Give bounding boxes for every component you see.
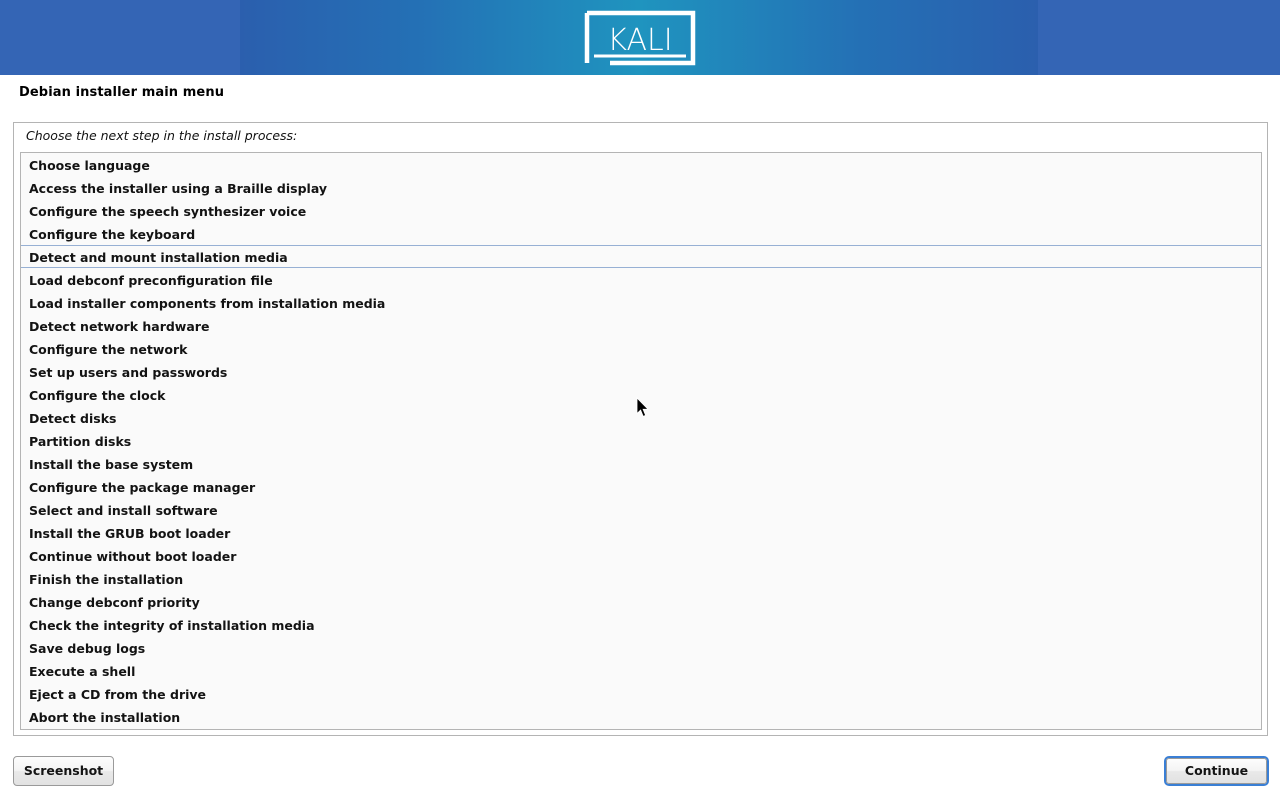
menu-item[interactable]: Set up users and passwords: [21, 360, 1261, 383]
menu-item[interactable]: Configure the clock: [21, 383, 1261, 406]
svg-text:KALI: KALI: [607, 23, 672, 58]
menu-item[interactable]: Install the GRUB boot loader: [21, 521, 1261, 544]
menu-item[interactable]: Load debconf preconfiguration file: [21, 268, 1261, 291]
menu-item[interactable]: Configure the speech synthesizer voice: [21, 199, 1261, 222]
menu-item[interactable]: Eject a CD from the drive: [21, 682, 1261, 705]
menu-item[interactable]: Continue without boot loader: [21, 544, 1261, 567]
menu-item[interactable]: Choose language: [21, 153, 1261, 176]
panel-prompt: Choose the next step in the install proc…: [26, 128, 297, 143]
page-title: Debian installer main menu: [19, 85, 224, 100]
menu-item[interactable]: Install the base system: [21, 452, 1261, 475]
menu-item[interactable]: Partition disks: [21, 429, 1261, 452]
menu-item[interactable]: Configure the package manager: [21, 475, 1261, 498]
menu-item[interactable]: Execute a shell: [21, 659, 1261, 682]
menu-item[interactable]: Detect network hardware: [21, 314, 1261, 337]
continue-button[interactable]: Continue: [1166, 758, 1267, 784]
menu-item[interactable]: Access the installer using a Braille dis…: [21, 176, 1261, 199]
menu-item[interactable]: Save debug logs: [21, 636, 1261, 659]
menu-item[interactable]: Abort the installation: [21, 705, 1261, 728]
kali-banner: KALI: [0, 0, 1280, 75]
kali-logo-icon: KALI: [584, 10, 696, 66]
menu-item[interactable]: Change debconf priority: [21, 590, 1261, 613]
menu-item[interactable]: Configure the keyboard: [21, 222, 1261, 245]
menu-item[interactable]: Load installer components from installat…: [21, 291, 1261, 314]
installer-panel: Choose the next step in the install proc…: [13, 122, 1268, 736]
menu-item[interactable]: Configure the network: [21, 337, 1261, 360]
menu-item[interactable]: Finish the installation: [21, 567, 1261, 590]
continue-button-focus-ring: Continue: [1164, 756, 1269, 786]
menu-item[interactable]: Detect and mount installation media: [21, 245, 1261, 268]
menu-item[interactable]: Check the integrity of installation medi…: [21, 613, 1261, 636]
menu-item[interactable]: Select and install software: [21, 498, 1261, 521]
installer-step-list[interactable]: Choose languageAccess the installer usin…: [20, 152, 1262, 730]
menu-item[interactable]: Detect disks: [21, 406, 1261, 429]
screenshot-button[interactable]: Screenshot: [13, 756, 114, 786]
